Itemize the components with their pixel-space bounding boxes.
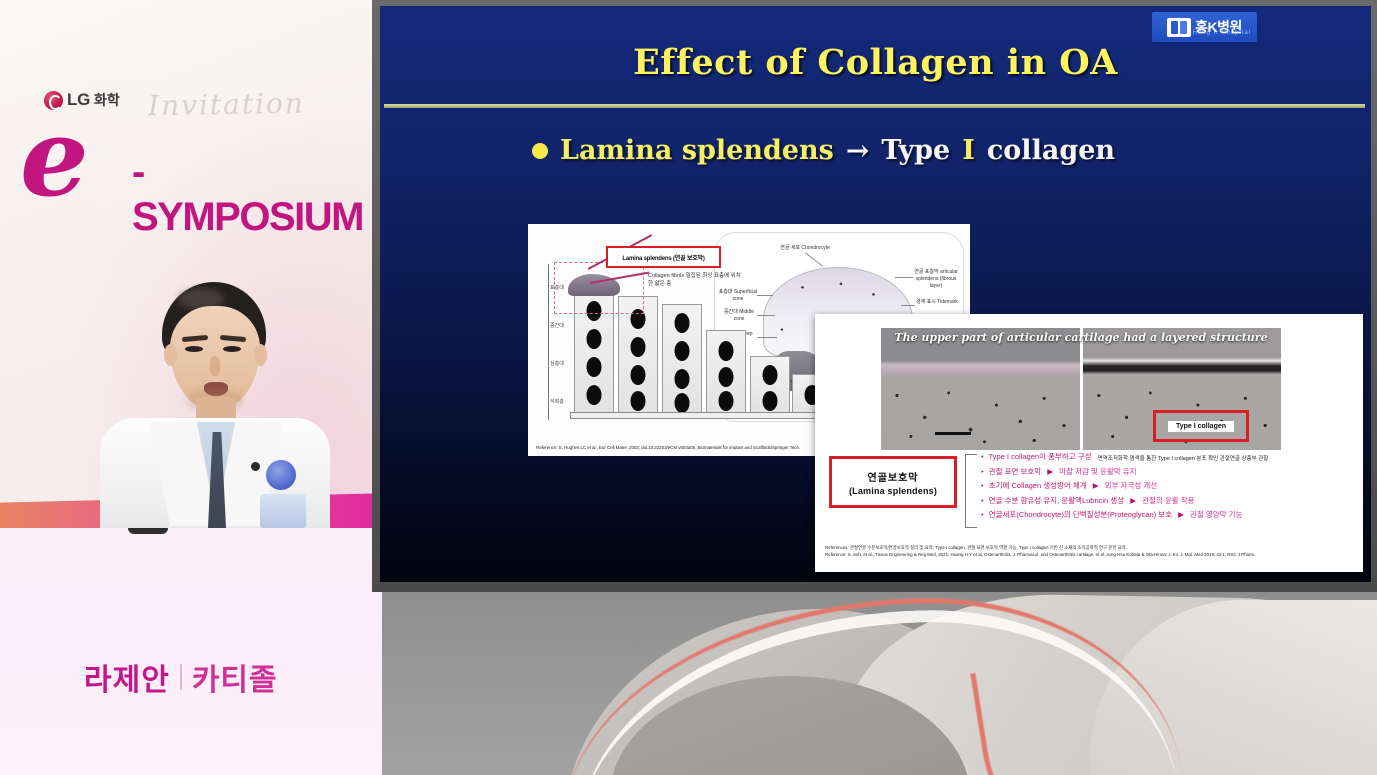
presenter-nose xyxy=(210,356,220,376)
zoom-leader-1 xyxy=(805,252,823,266)
slide-title: Effect of Collagen in OA xyxy=(380,42,1371,83)
benefit-bullet-list: • Type I collagen이 풍부하고 구성 • 관절 표면 보호막 ▶… xyxy=(981,450,1351,523)
figure1-highlight-box xyxy=(554,262,644,314)
list-item: • 초기에 Collagen 생성방어 체계 ▶ 외부 자극성 개선 xyxy=(981,479,1351,494)
bullet-bracket xyxy=(965,454,977,528)
bullet-result-type: I xyxy=(962,135,975,166)
product-brand-lockup: 라제안 카티졸 xyxy=(84,655,278,699)
hospital-logo: 홍K병원 xyxy=(1152,12,1257,42)
korean-box-line2: (Lamina splendens) xyxy=(849,486,937,496)
presentation-slide: 홍K병원 Hong K Hospital Effect of Collagen … xyxy=(380,6,1371,582)
histology-cell-nuclei xyxy=(881,382,1080,450)
histology-scale-bar xyxy=(935,432,971,435)
podium-front-panel xyxy=(0,528,382,775)
histology-caption: The upper part of articular cartilage ha… xyxy=(881,331,1281,344)
zoom-label-lamina: 연골 표층막 articular splendens (fibrous laye… xyxy=(911,269,961,290)
zoom-leader-5 xyxy=(895,277,913,278)
korean-box-line1: 연골보호막 xyxy=(868,469,919,484)
hospital-logo-subtext: Hong K Hospital xyxy=(1193,30,1251,36)
presenter-eye-right xyxy=(223,346,241,352)
coat-emblem xyxy=(266,460,296,490)
presenter-eye-left xyxy=(185,346,203,352)
slide-bullet-line: Lamina splendens → Type I collagen xyxy=(532,134,1115,167)
presenter-ear-left xyxy=(164,344,177,366)
figure-histology-card: The upper part of articular cartilage ha… xyxy=(815,314,1363,572)
tissue-column xyxy=(750,356,790,416)
figure2-references: References: 관절연골 수분보호막/연골보호막 정리 및 요약, Ty… xyxy=(825,545,1353,558)
figure1-note-text: Collagen fibrils 밀집된 최상 표층에 위치한 얇은 층 xyxy=(648,272,744,288)
bullet-text: 관절 표면 보호막 xyxy=(989,467,1041,476)
e-symposium-logo: e -SYMPOSIUM xyxy=(14,118,374,208)
bullet-text: Type I collagen이 풍부하고 구성 xyxy=(989,452,1092,461)
tissue-column xyxy=(706,330,746,416)
bullet-arrow-icon: ▶ xyxy=(1047,467,1053,476)
list-item: • 관절 표면 보호막 ▶ 마찰 저감 및 윤활막 유지 xyxy=(981,465,1351,480)
zoom-leader-6 xyxy=(901,305,915,306)
zone-label-1: 중간대 xyxy=(550,322,566,329)
bullet-result: 관절의 윤활 작용 xyxy=(1142,496,1194,505)
brand-separator xyxy=(180,664,182,690)
bullet-arrow-icon: ▶ xyxy=(1130,496,1136,505)
lamina-splendens-korean-box: 연골보호막 (Lamina splendens) xyxy=(829,456,957,508)
bullet-text: 연골세포(Chondrocyte)의 단백질성분(Proteoglycan) 보… xyxy=(989,510,1172,519)
zone-label-2: 심층대 xyxy=(550,360,566,367)
presenter-ear-right xyxy=(254,344,267,366)
bullet-result-post: collagen xyxy=(987,135,1115,166)
invitation-script-watermark: Invitation xyxy=(148,87,305,123)
coat-pocket-item xyxy=(260,494,306,528)
type-i-collagen-callout: Type I collagen xyxy=(1153,410,1249,442)
bullet-arrow-icon: ▶ xyxy=(1178,510,1184,519)
tissue-column xyxy=(618,296,658,416)
type-i-collagen-label: Type I collagen xyxy=(1168,421,1234,432)
arrow-right-icon: → xyxy=(846,134,869,167)
bullet-term: Lamina splendens xyxy=(560,135,834,166)
zoom-label-tidemark: 경계 표시 Tidemark xyxy=(915,299,959,306)
figure1-depth-axis xyxy=(548,264,549,420)
bullet-result: 마찰 저감 및 윤활막 유지 xyxy=(1059,467,1136,476)
bullet-arrow-icon: ▶ xyxy=(1093,481,1099,490)
bullet-result-pre: Type xyxy=(881,135,950,166)
lg-logo-text-kor: 화학 xyxy=(94,90,120,110)
video-frame: LG 화학 Invitation e -SYMPOSIUM 라제안 카티졸 홍K… xyxy=(0,0,1377,775)
bullet-result: 관절 영양막 기능 xyxy=(1190,510,1242,519)
reference-line-2: Reference: S. Suh, et al., Tissue Engine… xyxy=(825,552,1353,559)
brand-name-rajean: 라제안 xyxy=(84,655,170,699)
list-item: • Type I collagen이 풍부하고 구성 xyxy=(981,450,1351,465)
bullet-text: 연골 수분 함유성 유지, 윤활액Lubricin 생성 xyxy=(989,496,1124,505)
list-item: • 연골세포(Chondrocyte)의 단백질성분(Proteoglycan)… xyxy=(981,508,1351,523)
bullet-result: 외부 자극성 개선 xyxy=(1105,481,1157,490)
histology-image-left xyxy=(881,328,1080,450)
e-symposium-e-glyph: e xyxy=(20,114,89,202)
list-item: • 연골 수분 함유성 유지, 윤활액Lubricin 생성 ▶ 관절의 윤활 … xyxy=(981,494,1351,509)
figure1-callout-lamina-splendens: Lamina splendens (연골 보호막) xyxy=(606,246,721,268)
bullet-dot-icon xyxy=(532,143,548,159)
title-divider-rule xyxy=(384,104,1365,108)
hospital-logo-icon xyxy=(1167,18,1191,37)
brand-name-cartizol: 카티졸 xyxy=(192,655,278,699)
figure1-subchondral-base xyxy=(570,412,822,419)
slide-frame: 홍K병원 Hong K Hospital Effect of Collagen … xyxy=(372,0,1377,592)
e-symposium-wordmark: -SYMPOSIUM xyxy=(132,150,374,240)
presenter xyxy=(100,282,330,522)
lapel-microphone-icon xyxy=(251,462,260,471)
zone-label-3: 석회층 xyxy=(550,398,566,405)
tissue-column xyxy=(662,304,702,416)
bullet-text: 초기에 Collagen 생성방어 체계 xyxy=(989,481,1087,490)
